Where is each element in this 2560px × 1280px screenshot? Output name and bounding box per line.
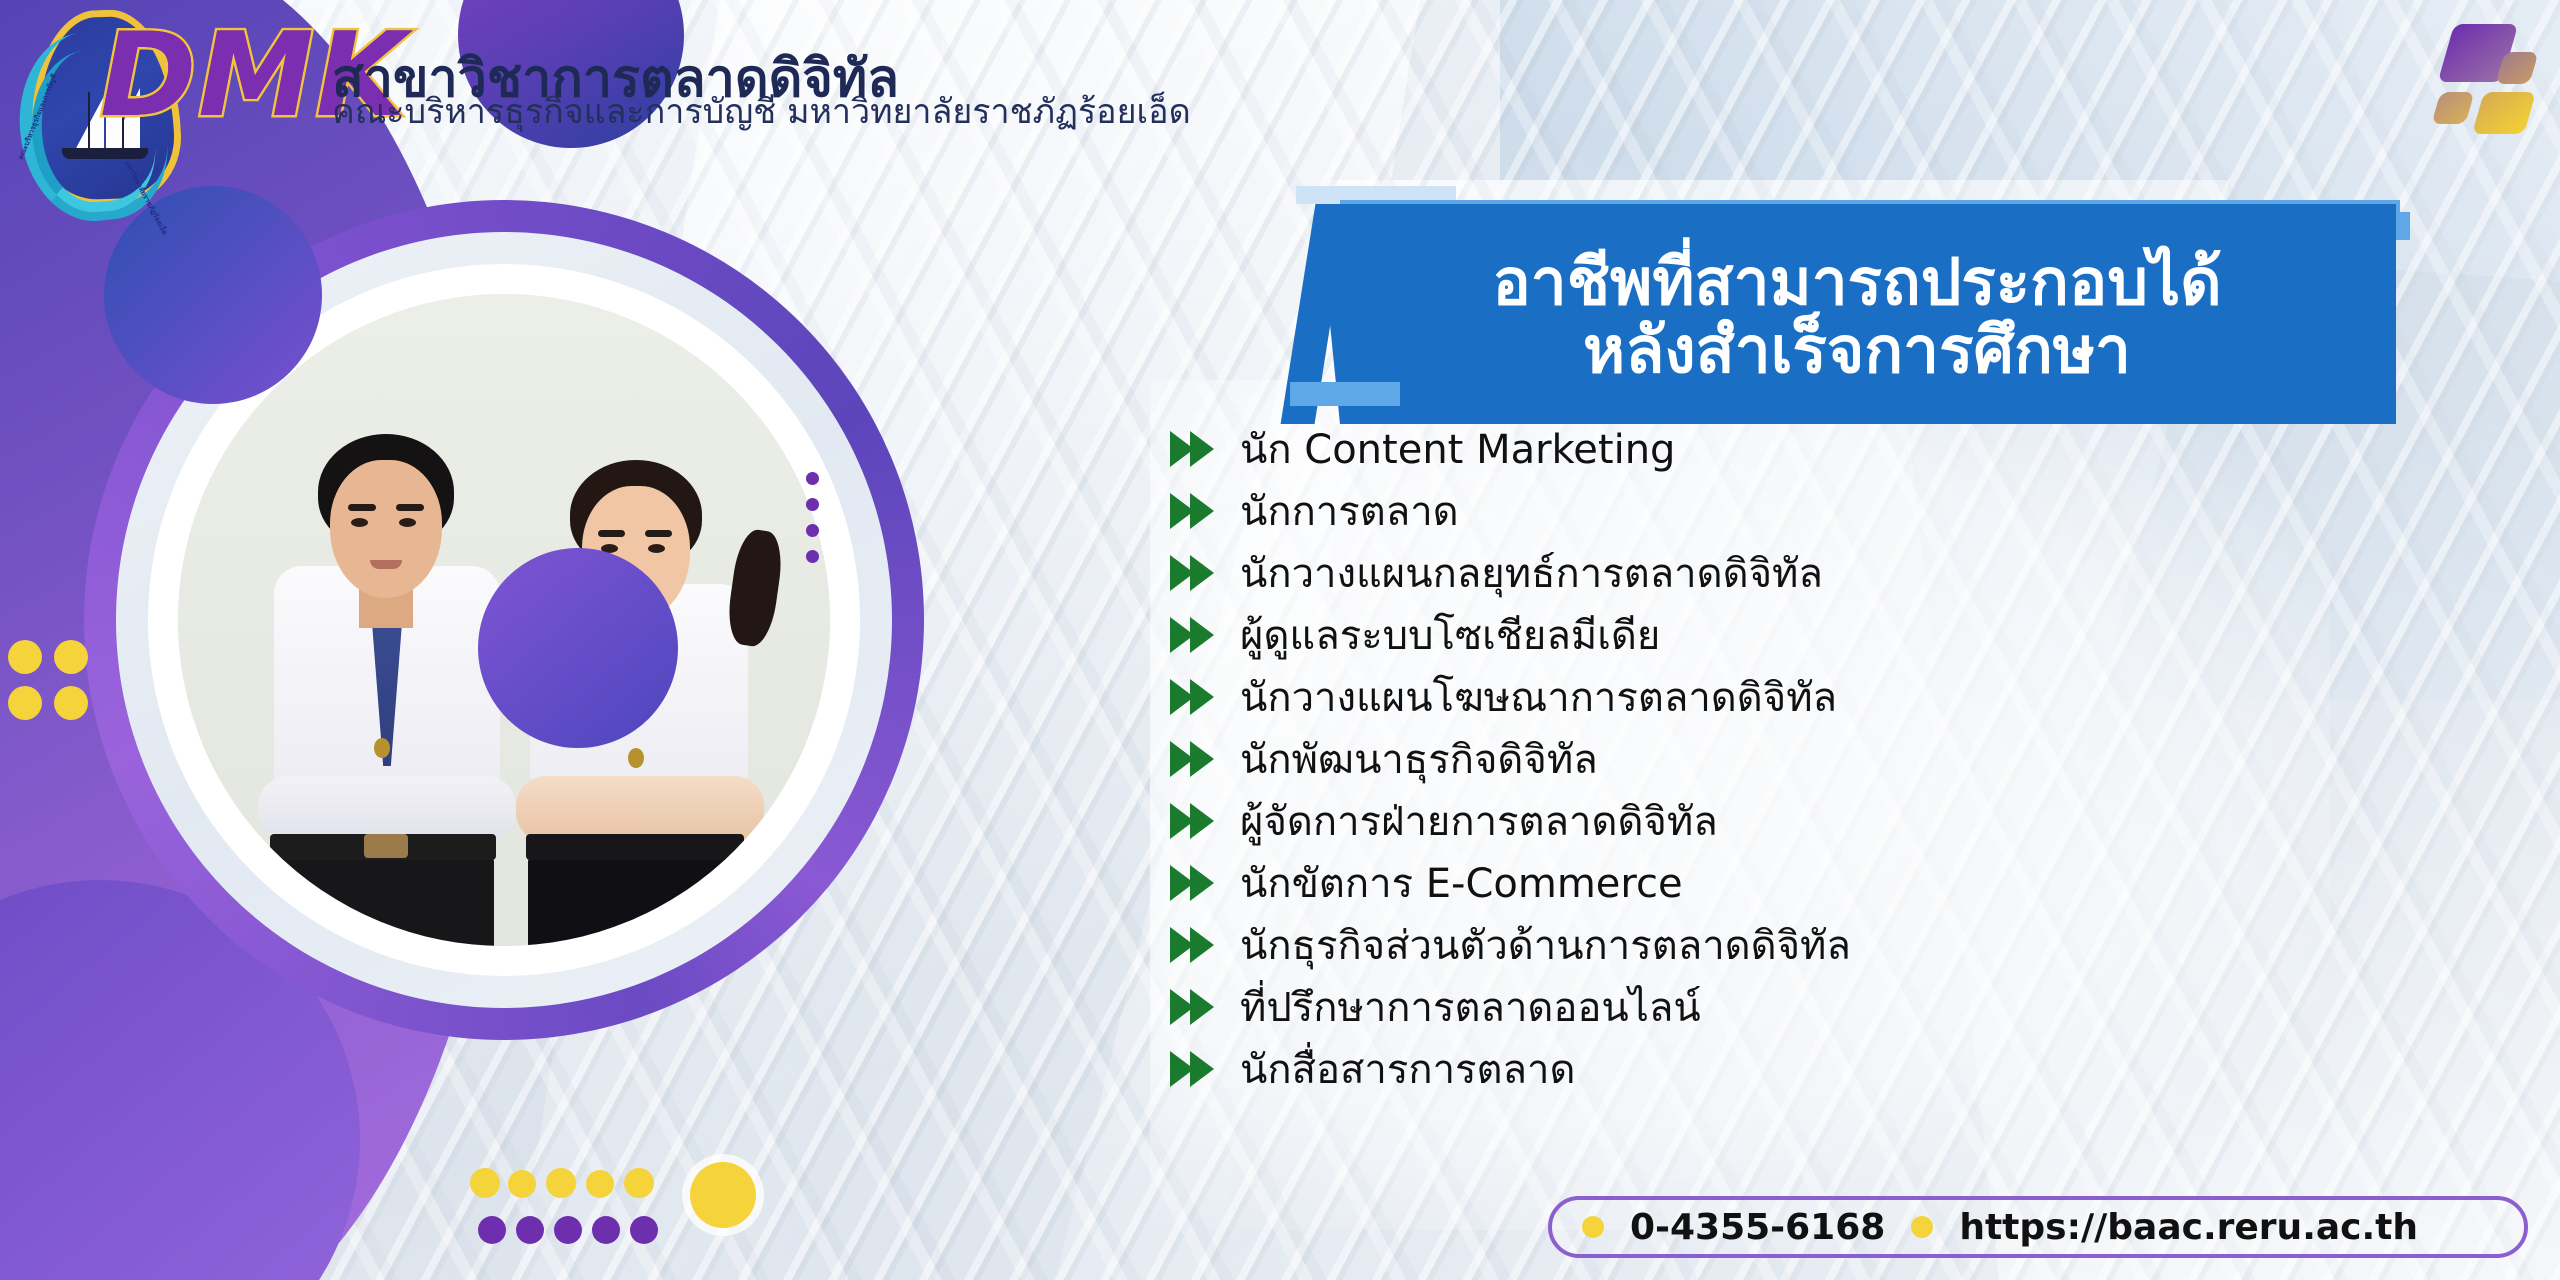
dot-column-purple xyxy=(806,472,820,592)
green-double-chevron-icon xyxy=(1168,925,1226,965)
career-list-item-label: ผู้ดูแลระบบโซเชียลมีเดีย xyxy=(1240,603,1660,667)
bullet-dot-icon xyxy=(1911,1216,1933,1238)
career-list-item: นักขัตการ E-Commerce xyxy=(1168,852,2368,914)
green-double-chevron-icon xyxy=(1168,739,1226,779)
dot-grid-left xyxy=(8,640,118,750)
promo-banner: คณะบริหารธุรกิจและการบัญชี มหาวิทยาลัยรา… xyxy=(0,0,2560,1280)
green-double-chevron-icon xyxy=(1168,615,1226,655)
logo-ring-text-left: คณะบริหารธุรกิจและการบัญชี xyxy=(16,73,60,162)
career-list-item: นักวางแผนกลยุทธ์การตลาดดิจิทัล xyxy=(1168,542,2368,604)
career-list-item-label: ผู้จัดการฝ่ายการตลาดดิจิทัล xyxy=(1240,789,1718,853)
career-list-item: นักการตลาด xyxy=(1168,480,2368,542)
career-list-item: นักพัฒนาธุรกิจดิจิทัล xyxy=(1168,728,2368,790)
dot-large-yellow xyxy=(690,1162,756,1228)
dot-row-purple xyxy=(478,1216,728,1256)
green-double-chevron-icon xyxy=(1168,1049,1226,1089)
green-double-chevron-icon xyxy=(1168,863,1226,903)
career-list-item-label: นักการตลาด xyxy=(1240,479,1459,543)
career-list-item: นัก Content Marketing xyxy=(1168,418,2368,480)
career-list-item-label: นักธุรกิจส่วนตัวด้านการตลาดดิจิทัล xyxy=(1240,913,1851,977)
phone-number[interactable]: 0-4355-6168 xyxy=(1630,1207,1885,1248)
green-double-chevron-icon xyxy=(1168,491,1226,531)
career-list-item-label: นักสื่อสารการตลาด xyxy=(1240,1037,1575,1101)
contact-bar: 0-4355-6168 https://baac.reru.ac.th xyxy=(1548,1196,2528,1258)
career-list-item: ผู้ดูแลระบบโซเชียลมีเดีย xyxy=(1168,604,2368,666)
green-double-chevron-icon xyxy=(1168,677,1226,717)
career-list-item-label: นักวางแผนกลยุทธ์การตลาดดิจิทัล xyxy=(1240,541,1823,605)
website-url[interactable]: https://baac.reru.ac.th xyxy=(1959,1207,2418,1248)
career-list-item-label: นักขัตการ E-Commerce xyxy=(1240,851,1683,915)
career-list-item: ที่ปรึกษาการตลาดออนไลน์ xyxy=(1168,976,2368,1038)
banner-heading-line2: หลังสำเร็จการศึกษา xyxy=(1583,318,2131,386)
green-double-chevron-icon xyxy=(1168,429,1226,469)
accent-circle-top xyxy=(104,186,322,404)
faculty-line: คณะบริหารธุรกิจและการบัญชี มหาวิทยาลัยรา… xyxy=(332,84,1191,138)
career-list-item: นักธุรกิจส่วนตัวด้านการตลาดดิจิทัล xyxy=(1168,914,2368,976)
banner-heading: อาชีพที่สามารถประกอบได้ หลังสำเร็จการศึก… xyxy=(1318,212,2396,424)
career-list-item-label: นัก Content Marketing xyxy=(1240,417,1675,481)
banner-heading-line1: อาชีพที่สามารถประกอบได้ xyxy=(1492,250,2221,318)
bullet-dot-icon xyxy=(1582,1216,1604,1238)
green-double-chevron-icon xyxy=(1168,553,1226,593)
accent-circle-bottom xyxy=(478,548,678,748)
green-double-chevron-icon xyxy=(1168,801,1226,841)
career-list-item-label: นักพัฒนาธุรกิจดิจิทัล xyxy=(1240,727,1598,791)
career-list-item: ผู้จัดการฝ่ายการตลาดดิจิทัล xyxy=(1168,790,2368,852)
careers-list: นัก Content Marketingนักการตลาดนักวางแผน… xyxy=(1168,418,2368,1100)
career-list-item: นักสื่อสารการตลาด xyxy=(1168,1038,2368,1100)
green-double-chevron-icon xyxy=(1168,987,1226,1027)
career-list-item-label: นักวางแผนโฆษณาการตลาดดิจิทัล xyxy=(1240,665,1837,729)
career-list-item: นักวางแผนโฆษณาการตลาดดิจิทัล xyxy=(1168,666,2368,728)
career-list-item-label: ที่ปรึกษาการตลาดออนไลน์ xyxy=(1240,975,1701,1039)
